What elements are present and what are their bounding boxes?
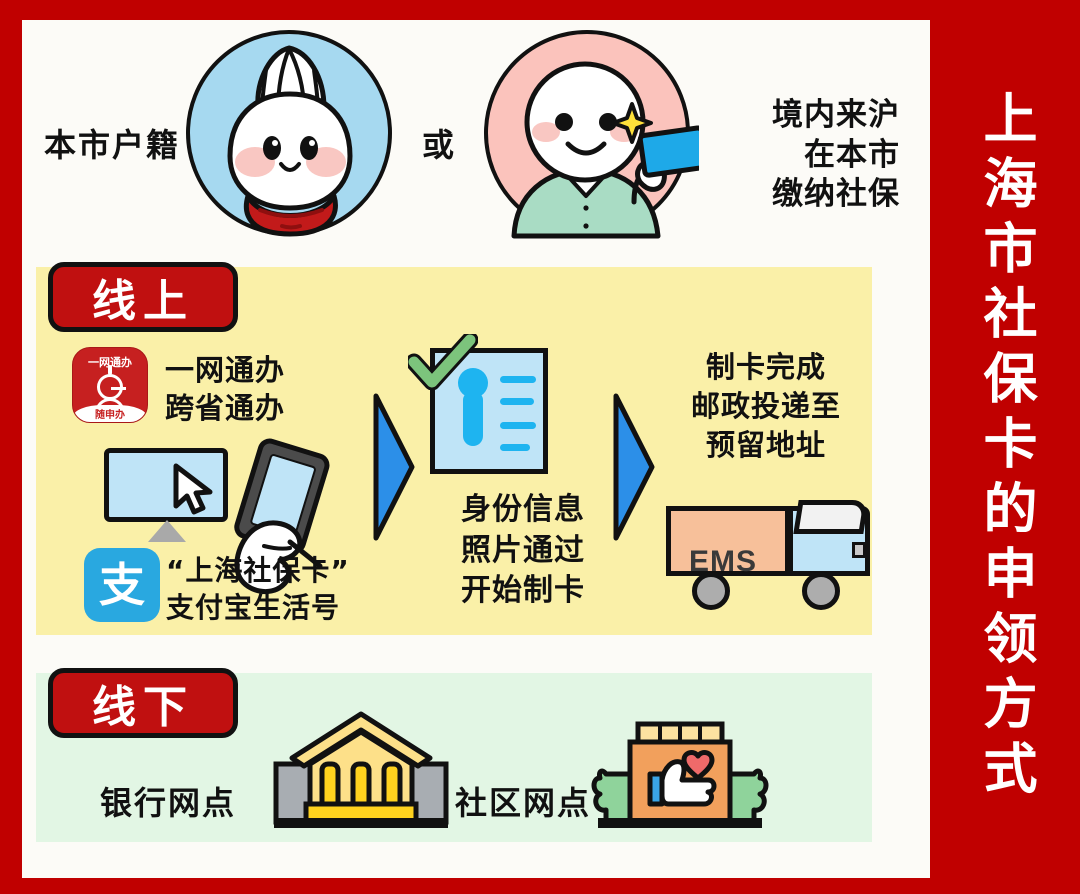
eligibility-row: 本市户籍 bbox=[0, 0, 908, 262]
bank-branch-label: 银行网点 bbox=[100, 778, 236, 824]
channel-1-line-2: 跨省通办 bbox=[165, 390, 285, 428]
doc-line-2 bbox=[500, 398, 534, 405]
channel-2-line-1: “上海社保卡” bbox=[166, 552, 350, 589]
step-3-label: 制卡完成 邮政投递至 预留地址 bbox=[650, 348, 882, 465]
poster-title: 上海市社保卡的申领方式 bbox=[978, 90, 1032, 805]
step-3-line-1: 制卡完成 bbox=[650, 348, 882, 387]
channel-2-label: “上海社保卡” 支付宝生活号 bbox=[166, 552, 350, 626]
alipay-glyph: 支 bbox=[99, 562, 145, 608]
channel-2-line-2: 支付宝生活号 bbox=[166, 589, 350, 626]
cursor-icon bbox=[170, 462, 220, 520]
eligibility-right-line-2: 在本市 bbox=[700, 136, 900, 176]
step-2-line-3: 开始制卡 bbox=[428, 571, 618, 612]
checkmark-icon bbox=[408, 334, 478, 390]
poster-title-strip: 上海市社保卡的申领方式 bbox=[930, 0, 1080, 894]
xiaolongbao-drawing bbox=[186, 30, 396, 240]
online-badge: 线上 bbox=[48, 262, 238, 332]
eligibility-right-line-1: 境内来沪 bbox=[700, 96, 900, 136]
arrow-right-icon-1 bbox=[372, 392, 416, 542]
xiaolongbao-mascot-icon bbox=[186, 30, 396, 240]
step-2-line-2: 照片通过 bbox=[428, 531, 618, 572]
truck-wheel-front bbox=[802, 572, 840, 610]
truck-window bbox=[793, 500, 868, 534]
step-3-line-3: 预留地址 bbox=[650, 426, 882, 465]
channel-1-label: 一网通办 跨省通办 bbox=[165, 352, 285, 427]
id-document-icon bbox=[430, 348, 548, 474]
poster-root: 本市户籍 bbox=[0, 0, 1080, 894]
person-drawing bbox=[484, 30, 699, 245]
silhouette-body bbox=[463, 392, 483, 446]
eligibility-right-line-3: 缴纳社保 bbox=[700, 175, 900, 215]
offline-badge: 线下 bbox=[48, 668, 238, 738]
app-icon-bottom-text: 随申办 bbox=[73, 406, 147, 421]
doc-line-3 bbox=[500, 422, 536, 429]
eligibility-connector: 或 bbox=[408, 120, 468, 166]
truck-wheel-rear bbox=[692, 572, 730, 610]
truck-ems-text: EMS bbox=[689, 545, 757, 579]
truck-cargo-box: EMS bbox=[666, 506, 790, 576]
step-2-line-1: 身份信息 bbox=[428, 490, 618, 531]
desktop-monitor-icon bbox=[104, 448, 228, 534]
step-2-label: 身份信息 照片通过 开始制卡 bbox=[428, 490, 618, 612]
alipay-app-icon[interactable]: 支 bbox=[84, 548, 160, 622]
step-3-line-2: 邮政投递至 bbox=[650, 387, 882, 426]
person-mascot-icon bbox=[484, 30, 694, 240]
ems-delivery-truck-icon: EMS bbox=[666, 494, 874, 610]
truck-light bbox=[852, 542, 866, 558]
eligibility-left-label: 本市户籍 bbox=[10, 120, 180, 166]
app-icon-e-glyph bbox=[97, 374, 123, 400]
yiwangtongban-app-icon[interactable]: 一网通办 随申办 bbox=[72, 347, 148, 423]
doc-line-4 bbox=[500, 444, 530, 451]
doc-line-1 bbox=[500, 376, 536, 383]
eligibility-right-label: 境内来沪 在本市 缴纳社保 bbox=[700, 96, 900, 215]
channel-1-line-1: 一网通办 bbox=[165, 352, 285, 390]
community-branch-label: 社区网点 bbox=[455, 778, 591, 824]
monitor-stand bbox=[148, 520, 186, 542]
community-center-icon bbox=[590, 718, 770, 834]
bank-building-icon bbox=[270, 706, 452, 834]
